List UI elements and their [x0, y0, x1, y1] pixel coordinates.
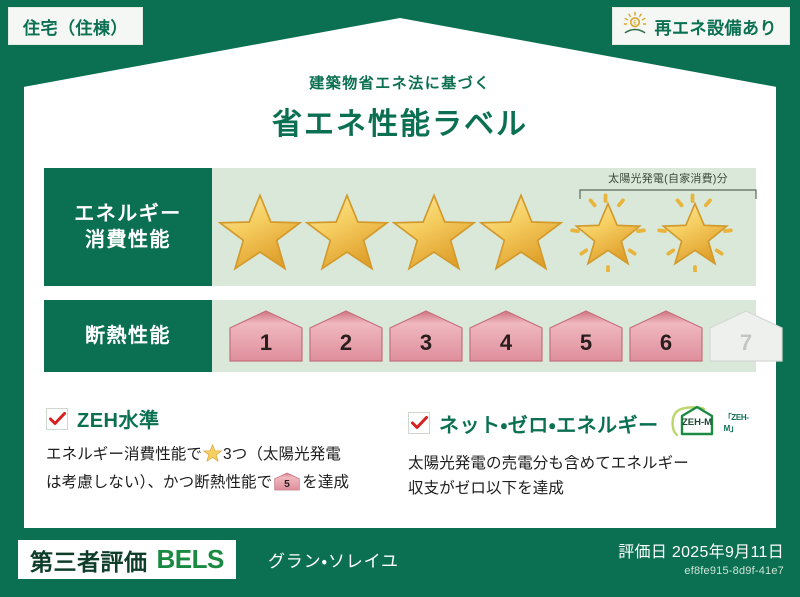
- grade-number: 2: [308, 330, 384, 356]
- insulation-performance-row: 断熱性能 1 2: [44, 300, 756, 372]
- grade-number: 1: [228, 330, 304, 356]
- nze-desc-line1: 太陽光発電の売電分も含めてエネルギー: [408, 455, 689, 472]
- insulation-grade-badge: 6: [628, 309, 704, 363]
- nze-desc-line2: 収支がゼロ以下を達成: [408, 480, 564, 497]
- grade-number: 6: [628, 330, 704, 356]
- insulation-grade-badge: 1: [228, 309, 304, 363]
- inline-grade-badge: 5: [274, 472, 300, 499]
- insulation-grade-badge: 4: [468, 309, 544, 363]
- zeh-desc-part3: を達成: [302, 474, 349, 491]
- building-name: グラン・ソレイユ: [268, 547, 399, 572]
- star-solar-sparkle: [566, 192, 650, 272]
- grade-number: 4: [468, 330, 544, 356]
- check-icon: [46, 408, 68, 430]
- insulation-grade-badge: 2: [308, 309, 384, 363]
- zeh-desc-part1: エネルギー消費性能で: [46, 446, 202, 463]
- star-solar-sparkle: [653, 192, 737, 272]
- insulation-performance-value: 1 2 3 4: [212, 300, 784, 372]
- evaluation-date: 評価日 2025年9月11日: [618, 538, 784, 562]
- insulation-grade-badge: 3: [388, 309, 464, 363]
- insulation-performance-key: 断熱性能: [44, 300, 212, 372]
- grade-number: 7: [708, 330, 784, 356]
- zeh-desc-part2: は考慮しない）、かつ断熱性能で: [46, 474, 272, 491]
- insulation-key-label: 断熱性能: [85, 323, 171, 349]
- evaluation-date-value: 2025年9月11日: [672, 544, 784, 561]
- energy-performance-label-card: 住宅（住棟） E 再エネ設備あり 建築物省エネ法に基づ: [0, 0, 800, 597]
- sun-icon: E: [622, 11, 648, 42]
- star-filled: [392, 192, 476, 272]
- housing-type-label: 住宅（住棟）: [23, 14, 128, 39]
- zeh-desc-starcount: 3つ（太陽光発電: [223, 446, 341, 463]
- energy-performance-key: エネルギー 消費性能: [44, 168, 212, 286]
- net-zero-energy-heading: ネット・ゼロ・エネルギー ZEH-M 「ZEH-M」: [408, 404, 758, 442]
- renewable-equipment-label: 再エネ設備あり: [655, 14, 778, 39]
- energy-performance-value: 太陽光発電(自家消費)分: [212, 168, 756, 286]
- evaluation-info: 評価日 2025年9月11日 ef8fe915-8d9f-41e7: [618, 538, 784, 577]
- net-zero-energy-description: 太陽光発電の売電分も含めてエネルギー 収支がゼロ以下を達成: [408, 451, 758, 501]
- insulation-grade-scale: 1 2 3 4: [212, 309, 784, 363]
- bels-certification-badge: 第三者評価 BELS: [18, 540, 236, 579]
- zeh-m-logo-icon: ZEH-M: [670, 404, 714, 442]
- net-zero-energy-block: ネット・ゼロ・エネルギー ZEH-M 「ZEH-M」 太陽光発電の売電分も含めて…: [408, 404, 758, 501]
- bels-jp-label: 第三者評価: [30, 543, 148, 577]
- evaluation-id: ef8fe915-8d9f-41e7: [618, 565, 784, 577]
- grade-number: 3: [388, 330, 464, 356]
- check-icon: [408, 412, 430, 434]
- zeh-standard-block: ZEH水準 エネルギー消費性能で3つ（太陽光発電は考慮しない）、かつ断熱性能で5…: [46, 404, 396, 499]
- bels-en-label: BELS: [157, 544, 224, 575]
- evaluation-date-label: 評価日: [618, 544, 667, 561]
- label-subtitle: 建築物省エネ法に基づく: [0, 72, 800, 93]
- energy-key-line2: 消費性能: [85, 227, 171, 253]
- energy-performance-row: エネルギー 消費性能: [44, 168, 756, 286]
- net-zero-energy-title: ネット・ゼロ・エネルギー: [439, 409, 659, 438]
- svg-text:5: 5: [284, 479, 290, 490]
- star-filled: [305, 192, 389, 272]
- star-filled: [479, 192, 563, 272]
- title-block: 建築物省エネ法に基づく 省エネ性能ラベル: [0, 72, 800, 143]
- zeh-standard-heading: ZEH水準: [46, 404, 396, 433]
- star-rating: [212, 192, 737, 272]
- label-footer: 第三者評価 BELS グラン・ソレイユ 評価日 2025年9月11日 ef8fe…: [0, 528, 800, 597]
- zeh-standard-description: エネルギー消費性能で3つ（太陽光発電は考慮しない）、かつ断熱性能で5を達成: [46, 442, 396, 499]
- energy-key-line1: エネルギー: [74, 201, 182, 227]
- housing-type-badge: 住宅（住棟）: [8, 7, 143, 45]
- zeh-m-logo-caption: 「ZEH-M」: [724, 412, 758, 434]
- insulation-grade-badge: 5: [548, 309, 624, 363]
- star-filled: [218, 192, 302, 272]
- inline-star-icon: [203, 449, 222, 466]
- insulation-grade-badge-inactive: 7: [708, 309, 784, 363]
- svg-text:ZEH-M: ZEH-M: [682, 417, 712, 428]
- grade-number: 5: [548, 330, 624, 356]
- solar-annotation-label: 太陽光発電(自家消費)分: [578, 170, 758, 186]
- label-main-title: 省エネ性能ラベル: [0, 99, 800, 143]
- renewable-equipment-badge: E 再エネ設備あり: [612, 7, 791, 45]
- zeh-standard-title: ZEH水準: [77, 404, 160, 433]
